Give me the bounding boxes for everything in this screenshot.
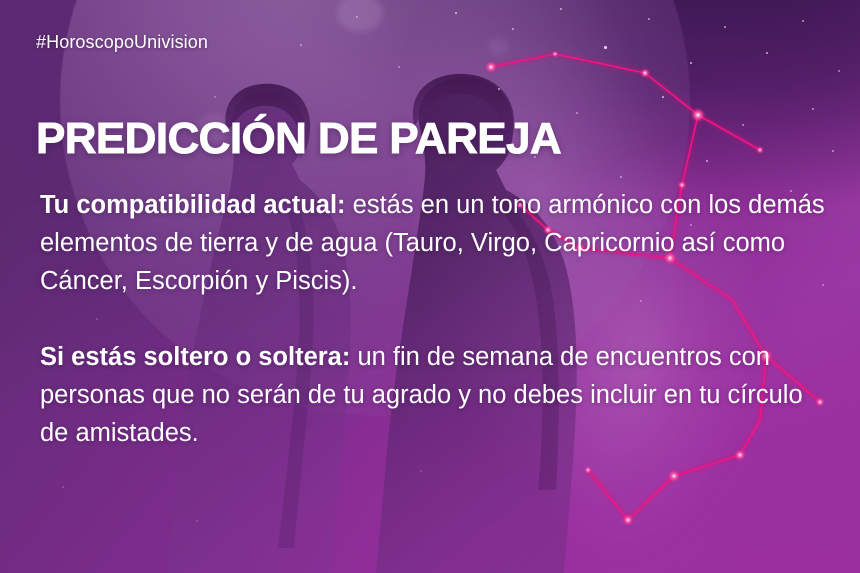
paragraph-compatibility: Tu compatibilidad actual: estás en un to… [40,186,830,300]
prediction-body: Tu compatibilidad actual: estás en un to… [40,186,830,452]
paragraph-compatibility-lead: Tu compatibilidad actual: [40,191,346,219]
card-content: #HoroscopoUnivision PREDICCIÓN DE PAREJA… [0,0,860,573]
horoscope-card: #HoroscopoUnivision PREDICCIÓN DE PAREJA… [0,0,860,573]
paragraph-single: Si estás soltero o soltera: un fin de se… [40,338,830,452]
page-title: PREDICCIÓN DE PAREJA [36,115,561,163]
paragraph-single-lead: Si estás soltero o soltera: [40,343,350,371]
hashtag-label: #HoroscopoUnivision [36,32,208,53]
